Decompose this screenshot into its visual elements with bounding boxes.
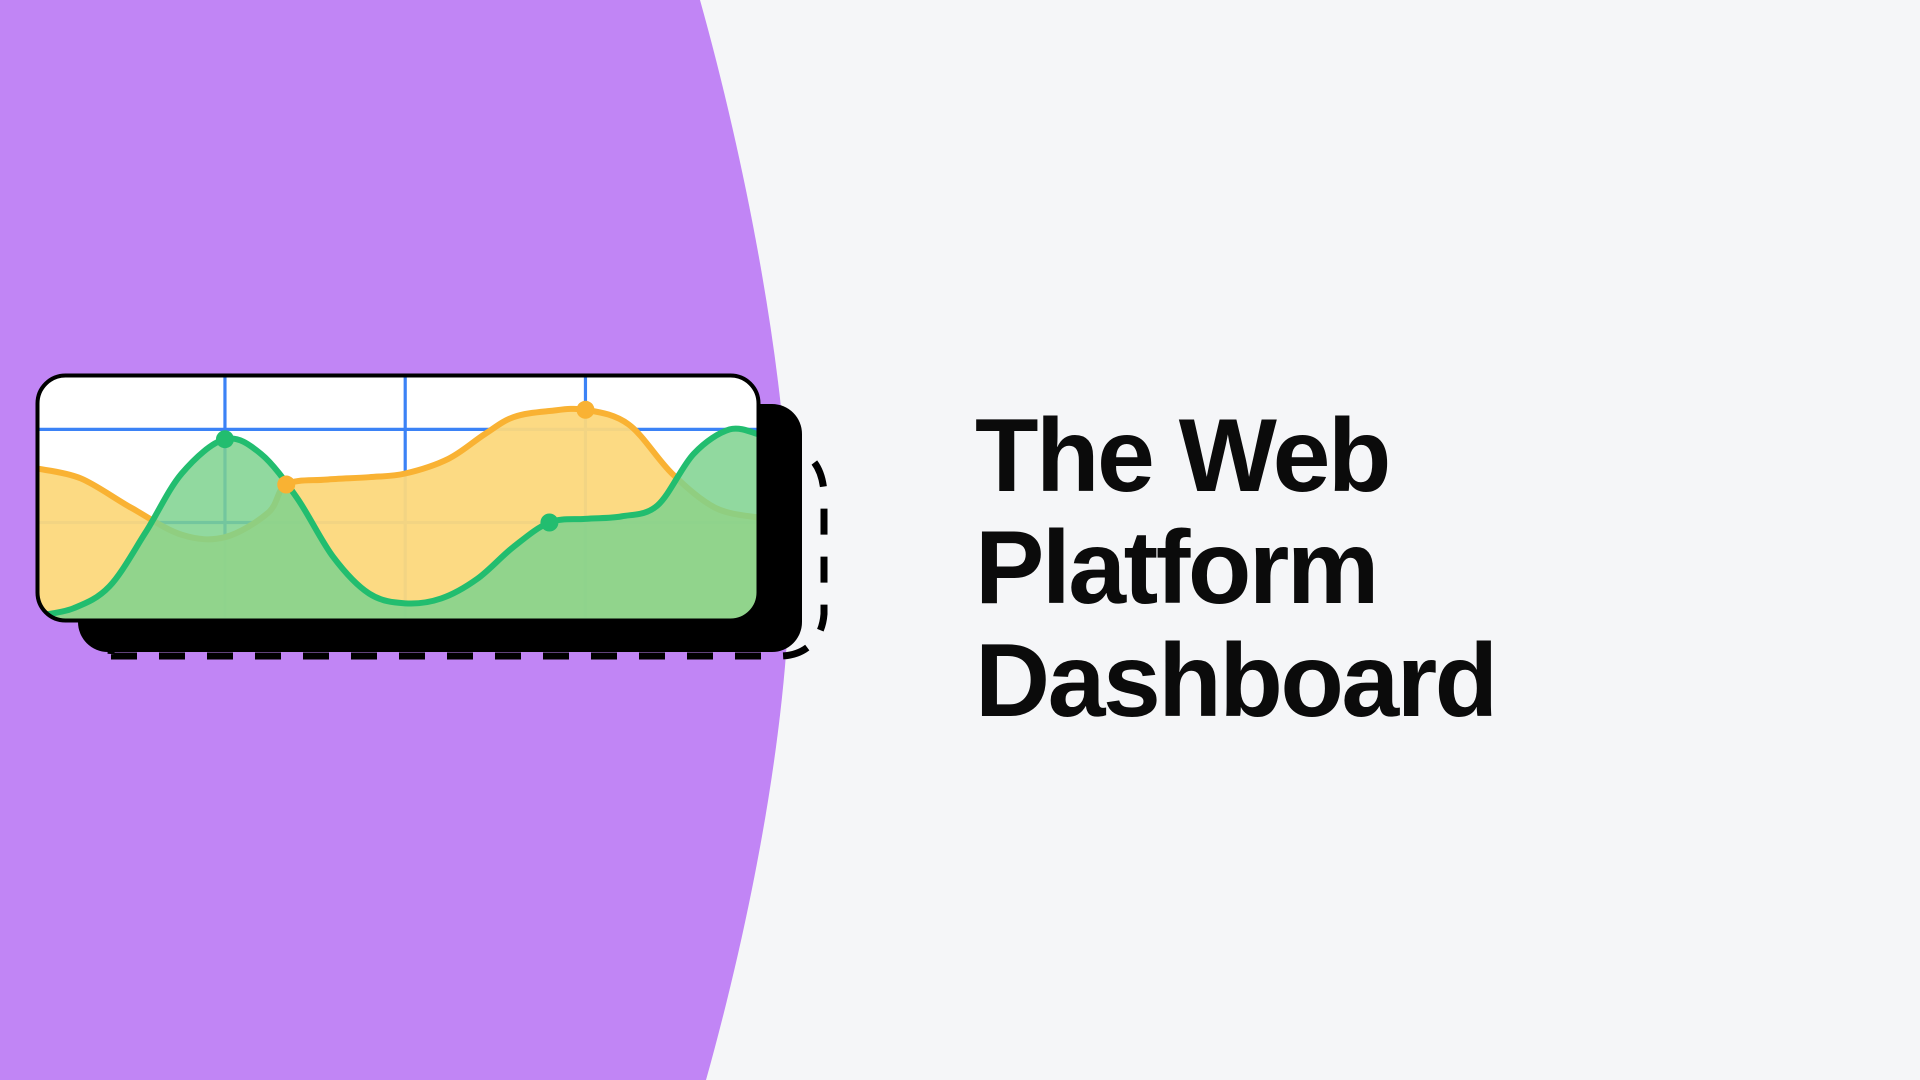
page-title-line-2: Platform — [975, 512, 1795, 624]
page-title-line-3: Dashboard — [975, 625, 1795, 737]
page-title: The Web Platform Dashboard — [975, 400, 1795, 737]
hero-canvas: The Web Platform Dashboard — [0, 0, 1920, 1080]
page-title-line-1: The Web — [975, 400, 1795, 512]
